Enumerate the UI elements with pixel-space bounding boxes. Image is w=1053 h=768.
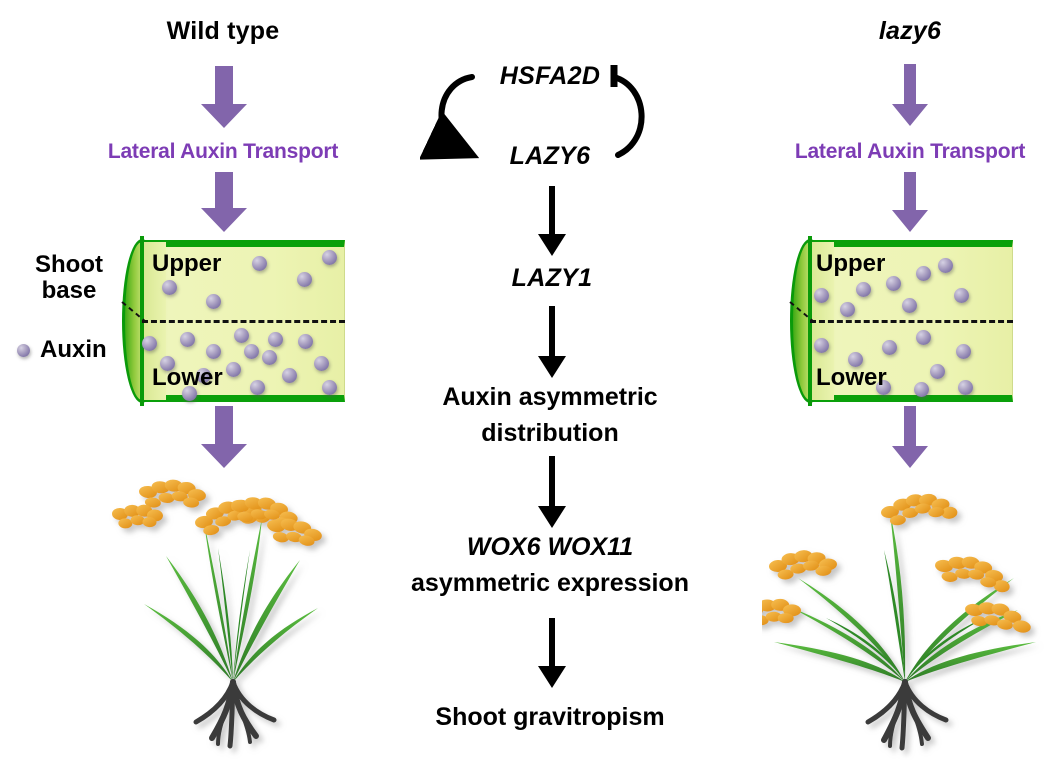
- auxin-dot: [206, 344, 221, 359]
- left-genotype-label: Wild type: [108, 18, 338, 46]
- auxin-dot: [916, 330, 931, 345]
- right-shoot-base-cylinder: Upper Lower: [790, 240, 1013, 402]
- right-genotype-label: lazy6: [810, 18, 1010, 46]
- edge-hsfa2d-to-lazy6: [441, 77, 472, 151]
- left-lower-zone-label: Lower: [152, 366, 223, 390]
- left-transport-label: Lateral Auxin Transport: [18, 140, 428, 164]
- upper-lower-divider: [810, 320, 1013, 323]
- shoot-base-label: Shoot base: [10, 252, 128, 304]
- feedback-loop-edges: [420, 55, 660, 185]
- auxin-dot: [298, 334, 313, 349]
- auxin-dot: [268, 332, 283, 347]
- auxin-dot: [938, 258, 953, 273]
- auxin-dot: [250, 380, 265, 395]
- cylinder-cap-tick: [120, 300, 150, 334]
- auxin-dot: [322, 380, 337, 395]
- right-lower-zone-label: Lower: [816, 366, 887, 390]
- auxin-dot: [282, 368, 297, 383]
- auxin-dot: [234, 328, 249, 343]
- auxin-dot: [956, 344, 971, 359]
- arrow-lazy1-to-auxin-distribution: [534, 306, 570, 380]
- auxin-distribution-line2: distribution: [400, 416, 700, 452]
- left-transport-arrow-bottom: [196, 406, 252, 470]
- right-transport-arrow-mid: [888, 172, 932, 234]
- auxin-dot: [930, 364, 945, 379]
- right-transport-label: Lateral Auxin Transport: [705, 140, 1053, 164]
- auxin-dot: [840, 302, 855, 317]
- auxin-dot: [180, 332, 195, 347]
- wox-expression-line: asymmetric expression: [390, 566, 710, 602]
- shoot-base-label-line2: base: [10, 278, 128, 304]
- upper-lower-divider: [142, 320, 345, 323]
- auxin-legend-label: Auxin: [40, 336, 107, 364]
- wild-type-plant-illustration: [108, 470, 358, 760]
- auxin-dot: [954, 288, 969, 303]
- auxin-dot: [814, 338, 829, 353]
- pathway-node-auxin-distribution: Auxin asymmetric distribution: [400, 380, 700, 451]
- auxin-dot: [244, 344, 259, 359]
- auxin-dot: [142, 336, 157, 351]
- auxin-dot-icon: [17, 344, 30, 357]
- pathway-node-shoot-gravitropism: Shoot gravitropism: [390, 700, 710, 736]
- left-transport-arrow-top: [196, 66, 252, 130]
- auxin-dot: [297, 272, 312, 287]
- auxin-dot: [856, 282, 871, 297]
- auxin-distribution-line1: Auxin asymmetric: [400, 380, 700, 416]
- auxin-dot: [886, 276, 901, 291]
- auxin-dot: [814, 288, 829, 303]
- auxin-dot: [914, 382, 929, 397]
- right-transport-arrow-bottom: [888, 406, 932, 470]
- pathway-node-lazy1: LAZY1: [452, 264, 652, 293]
- arrow-lazy6-to-lazy1: [534, 186, 570, 258]
- auxin-dot: [252, 256, 267, 271]
- auxin-dot: [882, 340, 897, 355]
- right-upper-zone-label: Upper: [816, 252, 885, 276]
- auxin-dot: [916, 266, 931, 281]
- auxin-dot: [162, 280, 177, 295]
- lazy6-plant-illustration: [762, 470, 1052, 760]
- wox-genes-line: WOX6 WOX11: [390, 530, 710, 566]
- right-transport-arrow-top: [888, 64, 932, 128]
- auxin-dot: [206, 294, 221, 309]
- shoot-base-label-line1: Shoot: [10, 252, 128, 278]
- left-shoot-base-cylinder: Upper Lower: [122, 240, 345, 402]
- auxin-dot: [262, 350, 277, 365]
- pathway-node-wox-expression: WOX6 WOX11 asymmetric expression: [390, 530, 710, 601]
- left-transport-arrow-mid: [196, 172, 252, 234]
- auxin-dot: [226, 362, 241, 377]
- arrow-auxin-to-wox: [534, 456, 570, 530]
- auxin-dot: [314, 356, 329, 371]
- auxin-dot: [958, 380, 973, 395]
- left-upper-zone-label: Upper: [152, 252, 221, 276]
- edge-lazy6-to-hsfa2d: [614, 77, 642, 155]
- arrow-wox-to-gravitropism: [534, 618, 570, 690]
- cylinder-cap-tick: [788, 300, 818, 334]
- auxin-dot: [322, 250, 337, 265]
- auxin-dot: [902, 298, 917, 313]
